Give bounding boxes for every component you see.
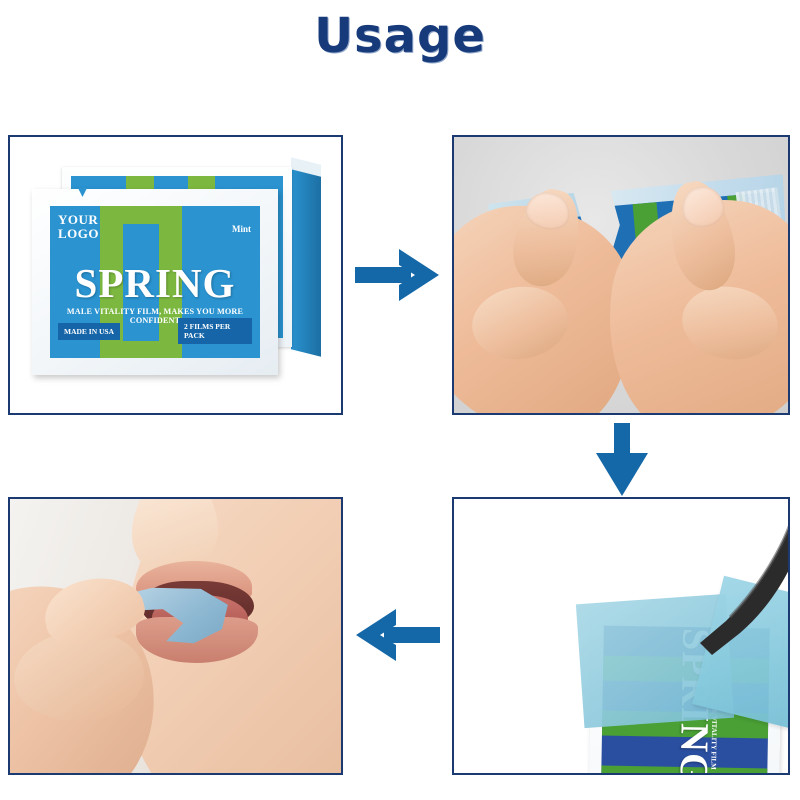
tear-notch-icon [78,188,87,197]
made-in-usa-badge: MADE IN USA [58,323,120,340]
step-1-panel: YOURLOGO Mint SPRING MALE VITALITY FILM,… [8,135,343,415]
your-logo-text: YOURLOGO [58,213,99,240]
films-badge-line2: PACK [184,331,205,340]
flavor-label: Mint [232,224,251,234]
product-name: SPRING [50,259,260,307]
step-2-panel: MADE INUSA SPRING RAPID ABSORPTION TECHN… [452,135,790,415]
films-per-pack-badge: 2 FILMS PERPACK [178,318,252,344]
step-4-panel: SPRING MALE VITALITY FILM 2 FILMS PER PA… [452,497,790,775]
your-logo-line2: LOGO [58,226,99,241]
tweezers-icon [690,499,788,663]
arrow-down-icon [592,423,652,498]
stripe-green-bar [100,206,182,224]
step-2-image: MADE INUSA SPRING RAPID ABSORPTION TECHN… [454,137,788,413]
step-1-image: YOURLOGO Mint SPRING MALE VITALITY FILM,… [10,137,341,413]
product-sachet: YOURLOGO Mint SPRING MALE VITALITY FILM,… [32,189,278,375]
box-side-face [291,169,321,356]
films-badge-line1: 2 FILMS PER [184,322,230,331]
usage-infographic: Usage YOURLOGO Mint [0,0,800,800]
step-3-image: Person placing the blue dissolving film … [10,499,341,773]
step-4-image: SPRING MALE VITALITY FILM 2 FILMS PER PA… [454,499,788,773]
arrow-right-icon [355,245,440,305]
arrow-left-icon [355,605,440,665]
sachet-label: YOURLOGO Mint SPRING MALE VITALITY FILM,… [50,206,260,358]
stripe-green-bar [100,341,182,358]
step-3-panel: Person placing the blue dissolving film … [8,497,343,775]
page-title: Usage [0,8,800,64]
